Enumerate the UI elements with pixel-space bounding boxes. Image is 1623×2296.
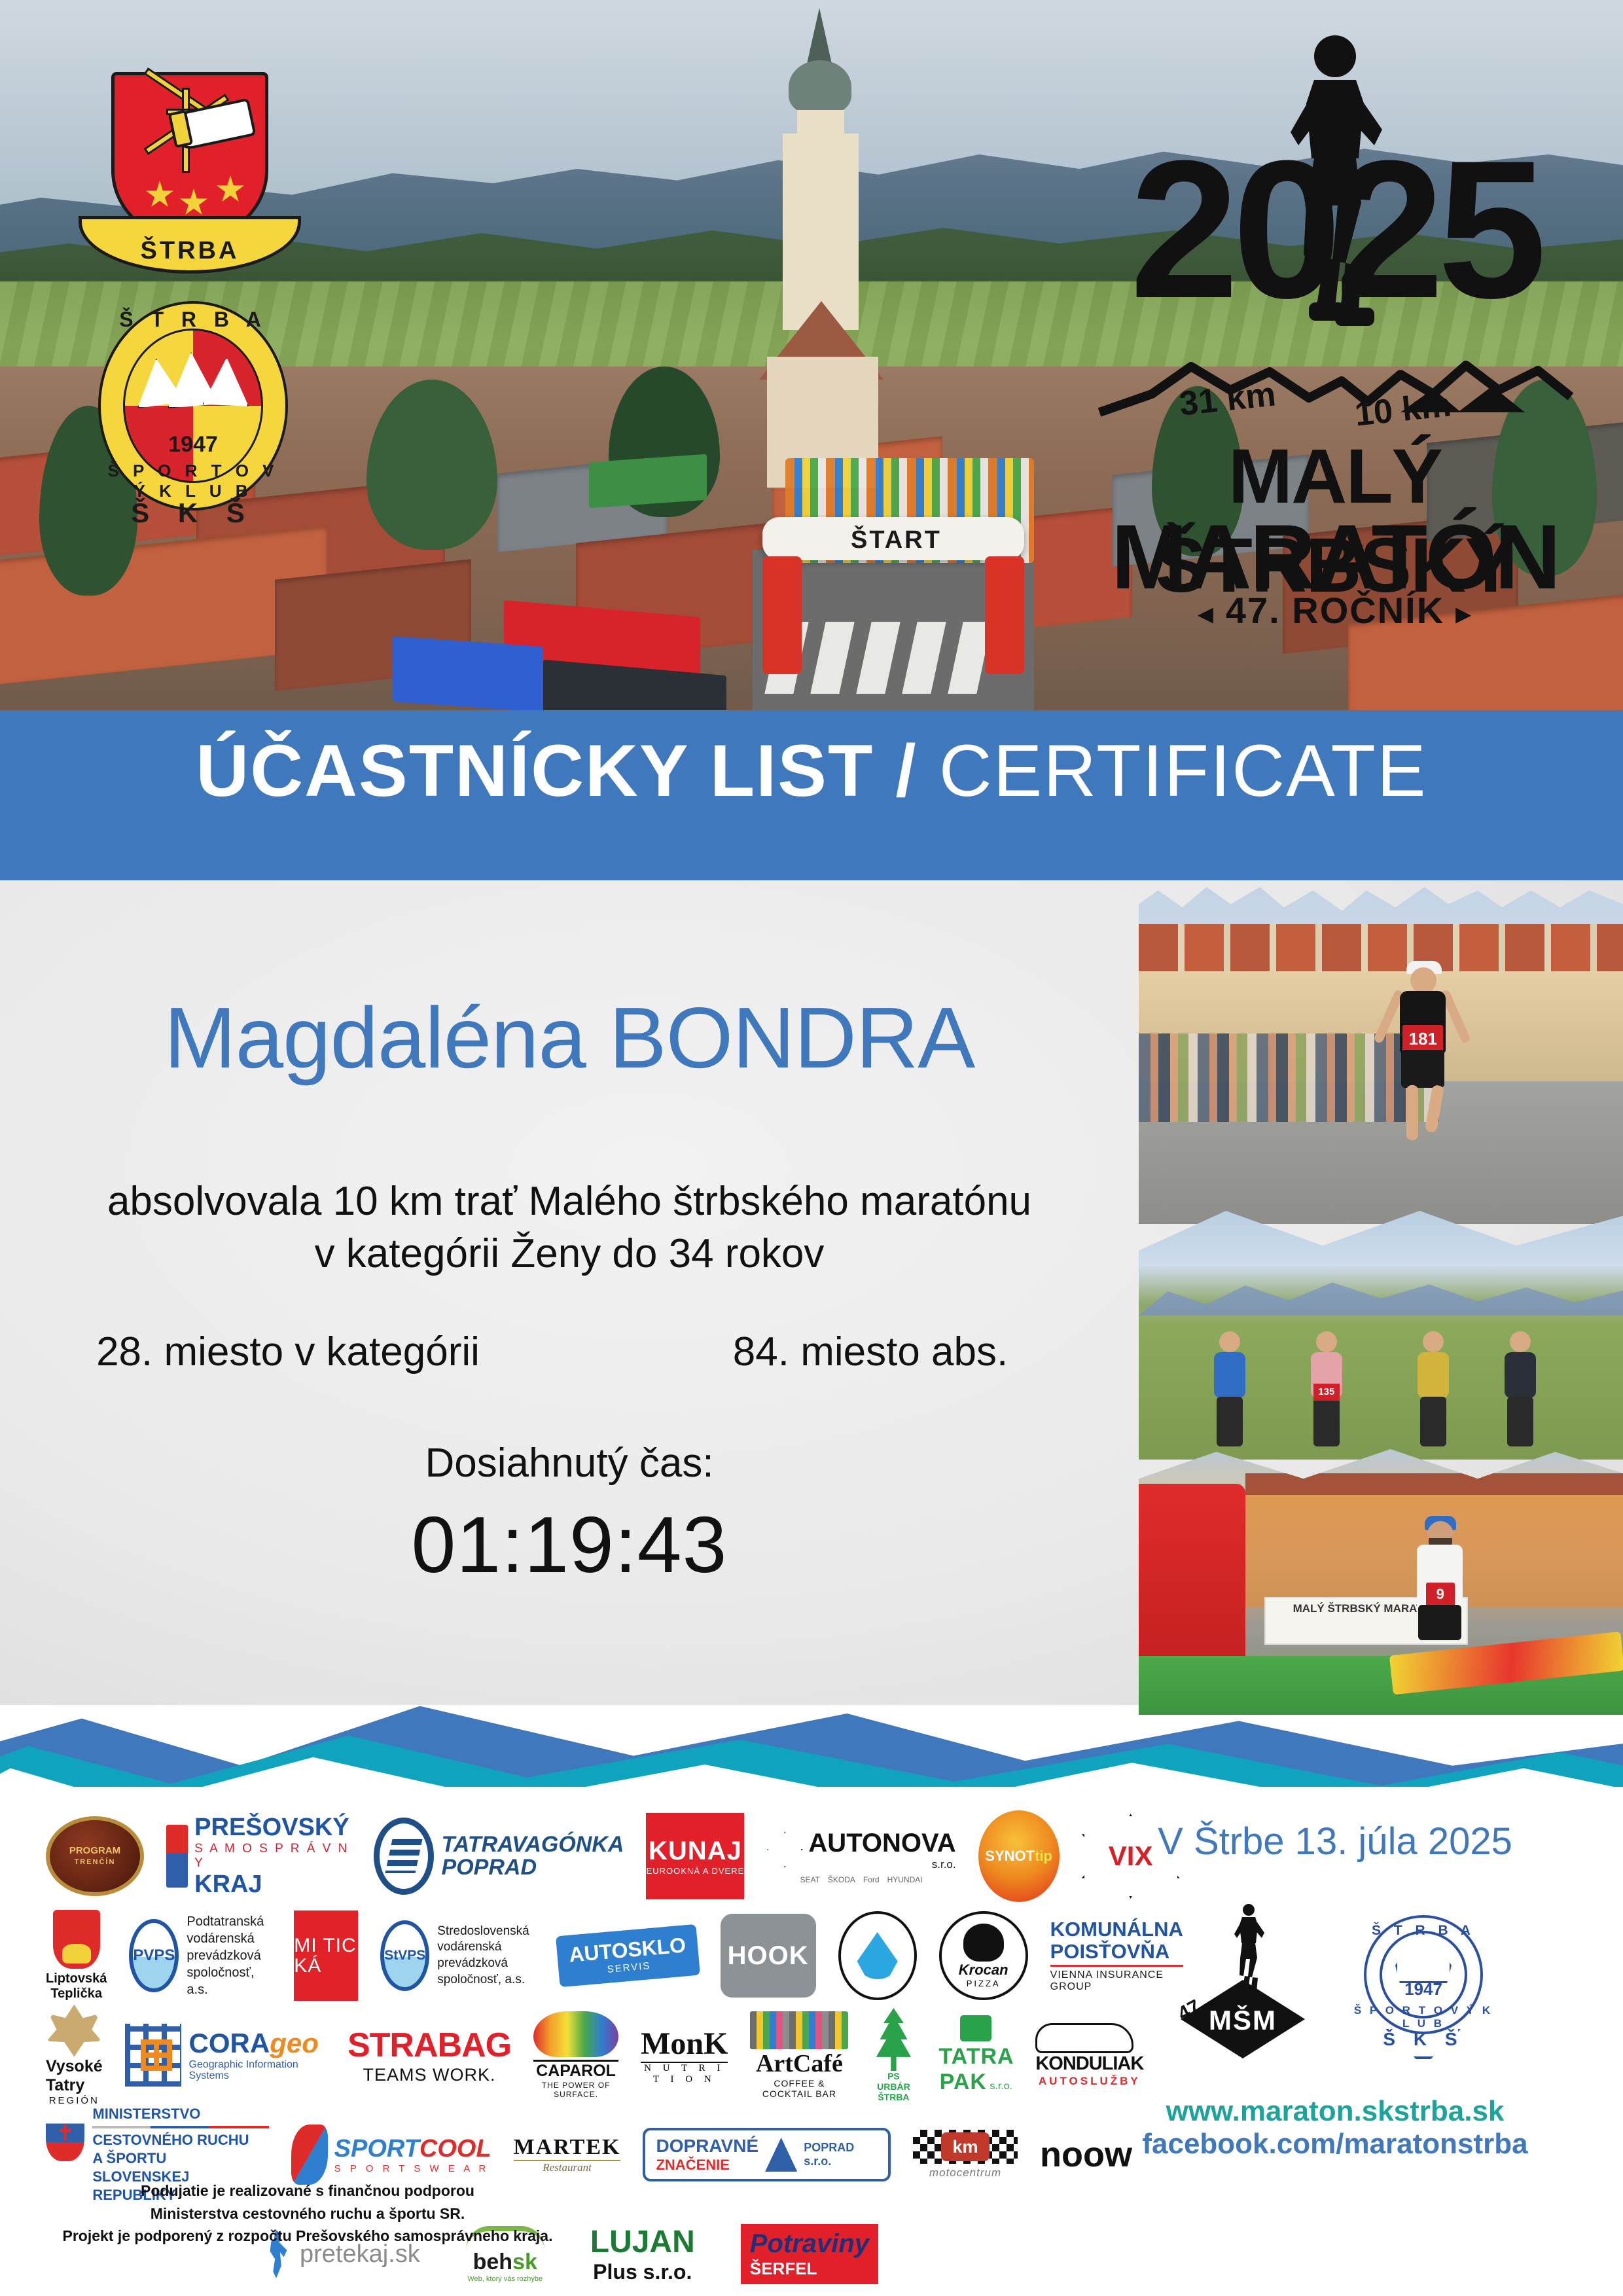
ministerstvo-line3: A ŠPORTU [92, 2149, 268, 2168]
autonova-brand-skoda: ŠKODA [828, 1875, 855, 1884]
km-label: km [941, 2132, 990, 2161]
sponsor-pd-strba [838, 1910, 917, 2001]
pvps-text: Podtatranská vodárenská prevádzková spol… [187, 1913, 272, 1998]
sponsor-stvps: StVPS Stredoslovenská vodárenská prevádz… [380, 1910, 535, 2001]
sks-abbrev-label: Š K Š [98, 497, 288, 529]
race-edition-text: 47. ROČNÍK [1226, 590, 1444, 631]
stvps-emblem-icon: StVPS [380, 1920, 429, 1991]
title-bold: ÚČASTNÍCKY LIST [196, 730, 874, 812]
autonova-star-icon [766, 1831, 803, 1868]
autonova-brand-hyundai: HYUNDAI [887, 1875, 923, 1884]
checkered-flag-icon: km [913, 2130, 1018, 2164]
sks-club-stamp: Š T R B A 1947 Š P O R T O V Ý K L U B Š… [1352, 1901, 1495, 2063]
sks-club-emblem: Š T R B A 1947 Š P O R T O V Ý K L U B [98, 301, 288, 511]
sponsor-tatra-pak: TATRA PAK s.r.o. [938, 2010, 1013, 2100]
msm-diamond: MŠM [1181, 1980, 1305, 2058]
presov-line3: KRAJ [194, 1871, 351, 1899]
caparol-label: CAPAROL [533, 2060, 618, 2081]
place-in-category: 28. miesto v kategórii [59, 1329, 517, 1375]
title-light: CERTIFICATE [939, 730, 1427, 812]
stvps-text: Stredoslovenská vodárenská prevádzková s… [437, 1924, 535, 1988]
martek-label: MARTEK [514, 2135, 621, 2160]
sponsor-row-1: PROGRAM TRENČÍN PREŠOVSKÝ S A M O S P R … [46, 1806, 1132, 1906]
sponsor-synot-tip: SYNOTtip [978, 1811, 1060, 1901]
sponsor-tatravagonka: TATRAVAGÓNKA POPRAD [374, 1811, 624, 1901]
corageo-sub: Geographic Information Systems [189, 2059, 325, 2082]
lujan-sub: Plus s.r.o. [590, 2260, 695, 2284]
presov-line2: S A M O S P R Á V N Y [194, 1842, 351, 1871]
footer-logos: 47. MŠM Š T R B A 1947 Š P O R T O V Ý K… [1086, 1900, 1584, 2064]
sponsor-program-trencin: PROGRAM TRENČÍN [46, 1811, 144, 1901]
sportcool-label: SPORT [334, 2135, 419, 2162]
dopravne-line3: POPRAD s.r.o. [804, 2141, 878, 2168]
tatravagonka-line1: TATRAVAGÓNKA [442, 1833, 624, 1856]
urbar-sub: ŠTRBA [870, 2092, 916, 2102]
ministerstvo-line2: CESTOVNÉHO RUCHU [92, 2131, 268, 2149]
caparol-elephant-icon [533, 2011, 618, 2057]
tatravagonka-emblem-icon [374, 1818, 434, 1895]
sponsor-presovsky-kraj: PREŠOVSKÝ S A M O S P R Á V N Y KRAJ [166, 1811, 351, 1901]
pvps-emblem-icon: PVPS [129, 1919, 179, 1992]
sponsor-hook: HOOK [721, 1910, 816, 2001]
sponsor-miticka: MI TIC KÁ [294, 1910, 358, 2001]
website-link[interactable]: www.maraton.skstrba.sk [1086, 2095, 1584, 2128]
monk-sub: N U T R I T I O N [641, 2062, 728, 2085]
sponsor-liptovska-teplicka: Liptovská Teplička [46, 1910, 107, 2001]
runner-group-4 [1488, 1323, 1550, 1454]
dopravne-triangle-icon [765, 2138, 797, 2172]
strabag-label: STRABAG [348, 2026, 511, 2065]
behsk-sub: Web, ktorý vás rozhýbe [466, 2275, 544, 2283]
sponsor-pvps: PVPS Podtatranská vodárenská prevádzková… [129, 1910, 272, 2001]
vysoke-label: Vysoké Tatry [46, 2057, 103, 2095]
sponsor-dopravne-znacenie: DOPRAVNÉ ZNAČENIE POPRAD s.r.o. [643, 2109, 891, 2200]
stamp-middle-label: Š P O R T O V Ý K L U B [1352, 2004, 1495, 2030]
potraviny-label: Potraviny [750, 2229, 869, 2259]
sportcool-sub: S P O R T S W E A R [334, 2163, 491, 2174]
stamp-year-label: 1947 [1352, 1979, 1495, 2000]
runner-woman: 181 [1371, 952, 1476, 1148]
slovakia-crest-icon: ✝ [46, 2105, 84, 2161]
sponsor-ps-urbar-strba: PS URBÁR ŠTRBA [870, 2010, 916, 2100]
artcafe-label: ArtCafé [750, 2049, 848, 2078]
hook-label: HOOK [721, 1914, 816, 1998]
facebook-link[interactable]: facebook.com/maratonstrba [1086, 2128, 1584, 2161]
sportcool-label2: COOL [419, 2135, 491, 2162]
stamp-abbrev-label: Š K Š [1352, 2029, 1495, 2050]
sponsor-program-label: PROGRAM [69, 1845, 120, 1856]
autonova-brand-seat: SEAT [800, 1875, 819, 1884]
msm-logo: 47. MŠM [1175, 1900, 1313, 2064]
lujan-label: LUJAN [590, 2224, 695, 2260]
behsk-label2: sk [512, 2250, 537, 2274]
behsk-label: beh [473, 2250, 512, 2274]
krocan-label: Krocan [959, 1962, 1008, 1979]
tatravagonka-line2: POPRAD [442, 1856, 624, 1879]
fineprint-line-3: Projekt je podporený z rozpočtu Prešovsk… [52, 2225, 563, 2248]
sponsor-krocan-pizza: Krocan PIZZA [939, 1910, 1028, 2001]
autonova-sub: s.r.o. [808, 1858, 955, 1871]
runner-group-2: 135 [1294, 1323, 1357, 1454]
footer-right: V Štrbe 13. júla 2025 [1086, 1806, 1584, 2161]
miticka-label: MI TIC KÁ [294, 1910, 358, 2001]
sponsor-row-3: Vysoké Tatry REGIÓN CORAgeo Geographic I… [46, 2005, 1132, 2105]
monk-label: MonK [641, 2026, 728, 2061]
presov-flag-icon [166, 1825, 188, 1888]
msm-abbrev: MŠM [1181, 2005, 1305, 2036]
event-place-date: V Štrbe 13. júla 2025 [1086, 1820, 1584, 1863]
ministerstvo-line1: MINISTERSTVO [92, 2105, 268, 2123]
fineprint: Podujatie je realizované s finančnou pod… [52, 2179, 563, 2248]
strba-ribbon-label: ŠTRBA [82, 237, 298, 265]
sponsor-strabag: STRABAG TEAMS WORK. [348, 2010, 511, 2100]
runner-group-3 [1400, 1323, 1463, 1454]
sponsor-kunaj: KUNAJ EUROOKNÁ A DVERE [646, 1811, 744, 1901]
race-edition-label: ◂ 47. ROČNÍK ▸ [1093, 589, 1577, 632]
urbar-tree-icon [870, 2008, 916, 2071]
motocentrum-sub: motocentrum [913, 2166, 1018, 2179]
dopravne-line2: ZNAČENIE [656, 2157, 758, 2174]
artcafe-sub: COFFEE & COCKTAIL BAR [750, 2078, 848, 2099]
sponsor-autonova: AUTONOVA s.r.o. SEAT ŠKODA Ford HYUNDAI [766, 1811, 955, 1901]
edelweiss-icon [46, 2005, 101, 2057]
krocan-turkey-icon [963, 1924, 1004, 1962]
photo-finishing-woman: 181 [1139, 884, 1623, 1224]
sponsor-monk-nutrition: MonK N U T R I T I O N [641, 2010, 728, 2100]
corageo-label2: geo [270, 2028, 319, 2058]
kunaj-label: KUNAJ [649, 1837, 742, 1866]
potraviny-sub: ŠERFEL [750, 2259, 869, 2279]
fineprint-line-2: Ministerstva cestovného ruchu a športu S… [52, 2202, 563, 2225]
fineprint-line-1: Podujatie je realizované s finančnou pod… [52, 2179, 563, 2202]
achievement-line-1: absolvovala 10 km trať Malého štrbského … [0, 1178, 1139, 1225]
liptovska-label: Liptovská [46, 1971, 107, 1986]
synot-label2: tip [1035, 1848, 1052, 1864]
time-label: Dosiahnutý čas: [0, 1440, 1139, 1486]
caparol-sub: THE POWER OF SURFACE. [533, 2081, 618, 2099]
artcafe-bars-icon [750, 2011, 848, 2049]
start-arch-label: ŠTART [851, 526, 942, 554]
synot-label: SYNOT [985, 1848, 1035, 1864]
liptovska-crest-icon [53, 1910, 100, 1969]
photo-collage: 181 135 [1099, 884, 1623, 1715]
sportcool-swoosh-icon [291, 2125, 328, 2185]
strba-ribbon: ŠTRBA [79, 216, 301, 274]
strabag-sub: TEAMS WORK. [348, 2065, 511, 2085]
kunaj-sub: EUROOKNÁ A DVERE [647, 1866, 745, 1876]
pd-strba-drop-icon [838, 1911, 917, 2000]
tatrapak-gift-icon [960, 2015, 991, 2041]
dopravne-line1: DOPRAVNÉ [656, 2136, 758, 2157]
corageo-label: CORA [189, 2028, 270, 2058]
corageo-grid-icon [125, 2024, 181, 2087]
sponsor-autosklo-servis: AUTOSKLO SERVIS [558, 1910, 698, 2001]
presov-line1: PREŠOVSKÝ [194, 1814, 351, 1842]
sponsor-caparol: CAPAROL THE POWER OF SURFACE. [533, 2010, 618, 2100]
race-logo: 2025 31 km 10 km MALÝ ŠTRBSKÝ MARATÓN ◂ … [1093, 26, 1577, 602]
sponsor-artcafe: ArtCafé COFFEE & COCKTAIL BAR [750, 2010, 848, 2100]
participant-name: Magdaléna BONDRA [0, 988, 1139, 1087]
bib-number-woman: 181 [1402, 1025, 1443, 1052]
sponsor-km-motocentrum: km motocentrum [913, 2109, 1018, 2200]
achievement-line-2: v kategórii Ženy do 34 rokov [0, 1230, 1139, 1277]
sponsor-lujan-plus: LUJAN Plus s.r.o. [590, 2209, 695, 2296]
martek-sub: Restaurant [514, 2160, 621, 2174]
race-year: 2025 [1093, 151, 1577, 308]
place-absolute: 84. miesto abs. [641, 1329, 1099, 1375]
mountain-ridge-icon [1093, 334, 1577, 432]
sks-top-label: Š T R B A [98, 308, 288, 332]
autonova-brand-ford: Ford [863, 1875, 880, 1884]
certificate-title: ÚČASTNÍCKY LIST / CERTIFICATE [0, 734, 1623, 808]
sponsor-vysoke-tatry: Vysoké Tatry REGIÓN [46, 2010, 103, 2100]
liptovska-sub: Teplička [50, 1986, 102, 2001]
mountain-divider [0, 1617, 1623, 1813]
time-value: 01:19:43 [0, 1499, 1139, 1590]
urbar-label: PS URBÁR [870, 2071, 916, 2092]
sponsor-potraviny-serfel: Potraviny ŠERFEL [741, 2209, 878, 2296]
certificate-page: ŠTART ŠTRBA [0, 0, 1623, 2296]
autonova-label: AUTONOVA [808, 1829, 955, 1858]
sks-year-label: 1947 [98, 432, 288, 457]
sponsor-row-2: Liptovská Teplička PVPS Podtatranská vod… [46, 1906, 1132, 2005]
sponsor-program-sub: TRENČÍN [75, 1858, 116, 1866]
sks-bottom-label: Š P O R T O V Ý K L U B [98, 461, 288, 501]
runner-group-1 [1197, 1323, 1260, 1454]
sponsor-corageo: CORAgeo Geographic Information Systems [125, 2010, 325, 2100]
krocan-sub: PIZZA [967, 1979, 1001, 1988]
title-separator: / [874, 730, 938, 812]
bib-number-man: 9 [1426, 1583, 1455, 1606]
tatrapak-sub: s.r.o. [990, 2081, 1012, 2092]
bib-number-group-2: 135 [1313, 1384, 1340, 1401]
stamp-top-label: Š T R B A [1352, 1923, 1495, 1939]
photo-group-runners: 135 [1139, 1211, 1623, 1460]
header-photo-village: ŠTART ŠTRBA [0, 0, 1623, 720]
